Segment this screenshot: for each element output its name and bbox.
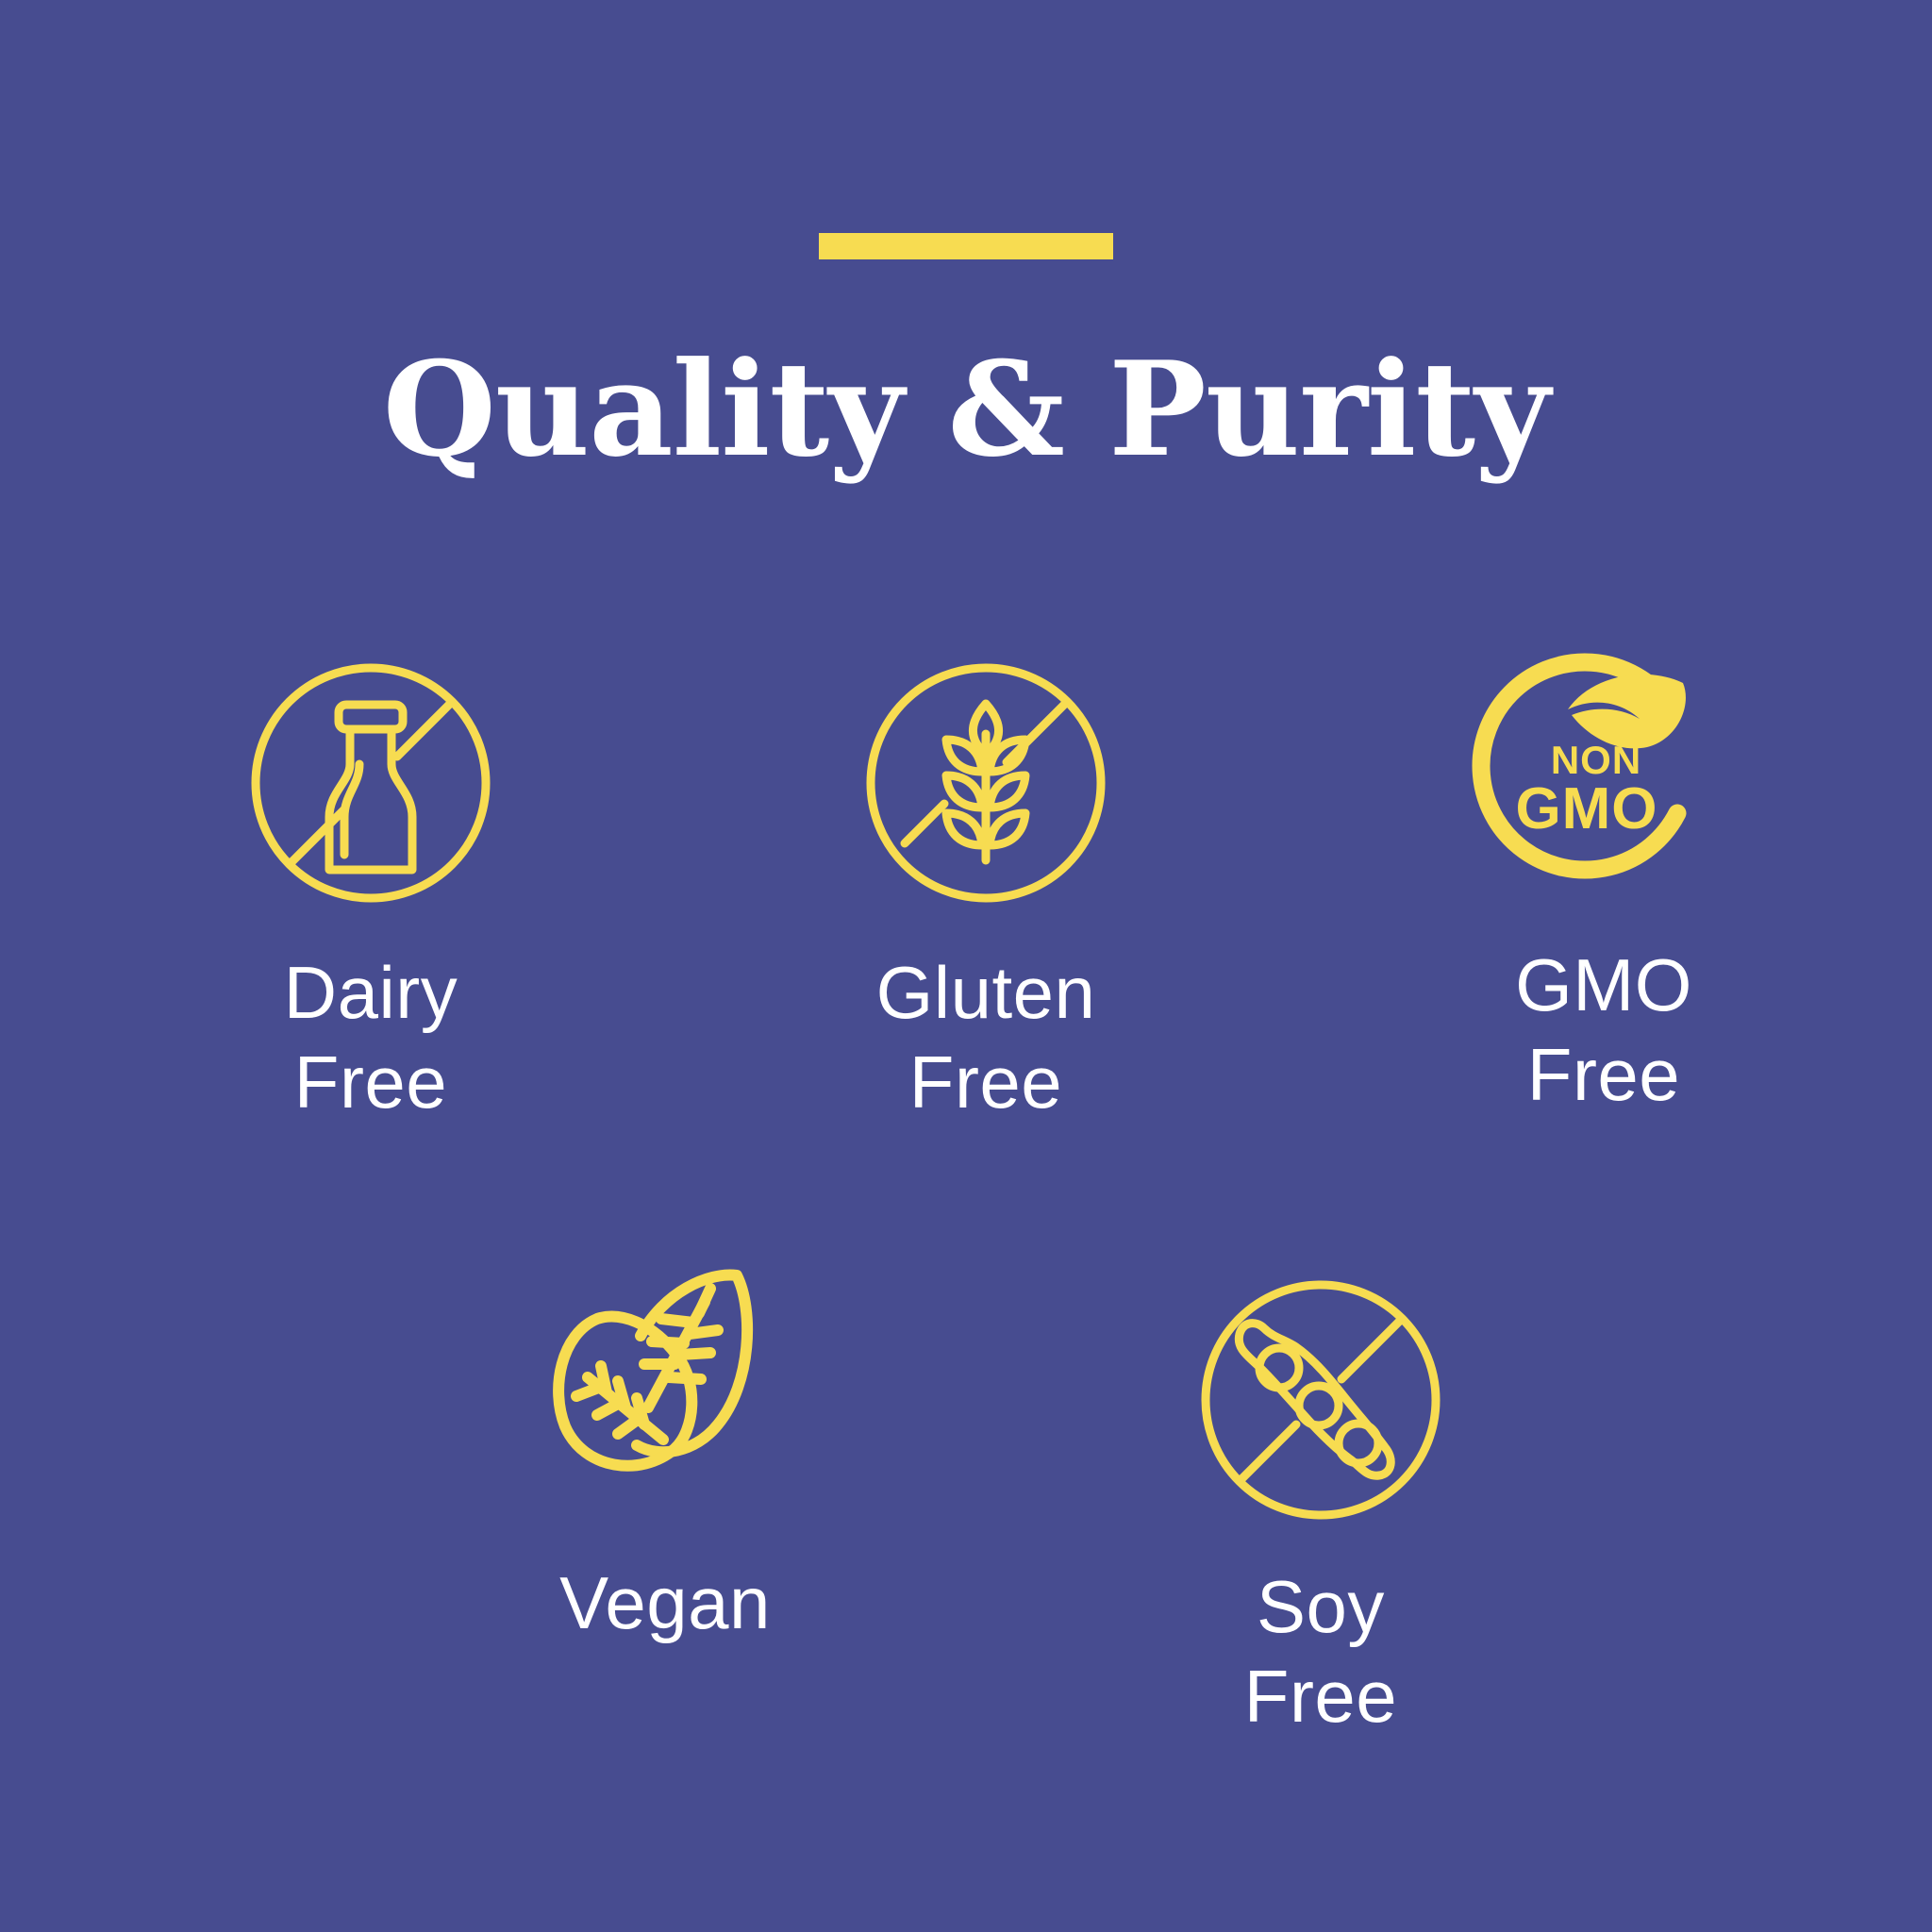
- no-wheat-icon: [863, 660, 1108, 906]
- badge-soy-free: Soy Free: [1113, 1264, 1528, 1741]
- infographic-canvas: Quality & Purity Dairy Free: [0, 0, 1932, 1932]
- title-divider-rule: [819, 233, 1113, 259]
- non-gmo-leaf-badge-icon: NON GMO: [1481, 653, 1726, 898]
- no-soybean-pod-icon: [1198, 1277, 1443, 1523]
- badge-label: Vegan: [559, 1558, 771, 1648]
- non-gmo-text-bottom: GMO: [1515, 776, 1657, 841]
- badge-gmo-free: NON GMO GMO Free: [1396, 660, 1811, 1127]
- badge-row-top: Dairy Free: [0, 660, 1932, 1127]
- badge-label: Gluten Free: [876, 948, 1096, 1127]
- badge-vegan: Vegan: [458, 1264, 873, 1741]
- non-gmo-text-top: NON: [1551, 738, 1641, 782]
- badge-label: Soy Free: [1244, 1562, 1397, 1741]
- badge-dairy-free: Dairy Free: [163, 660, 578, 1127]
- badge-label: GMO Free: [1515, 941, 1692, 1120]
- page-title: Quality & Purity: [0, 344, 1932, 475]
- badge-row-bottom: Vegan Soy Free: [0, 1264, 1932, 1741]
- no-milk-bottle-icon: [248, 660, 493, 906]
- two-leaves-icon: [542, 1264, 788, 1509]
- badge-gluten-free: Gluten Free: [778, 660, 1193, 1127]
- badge-label: Dairy Free: [284, 948, 458, 1127]
